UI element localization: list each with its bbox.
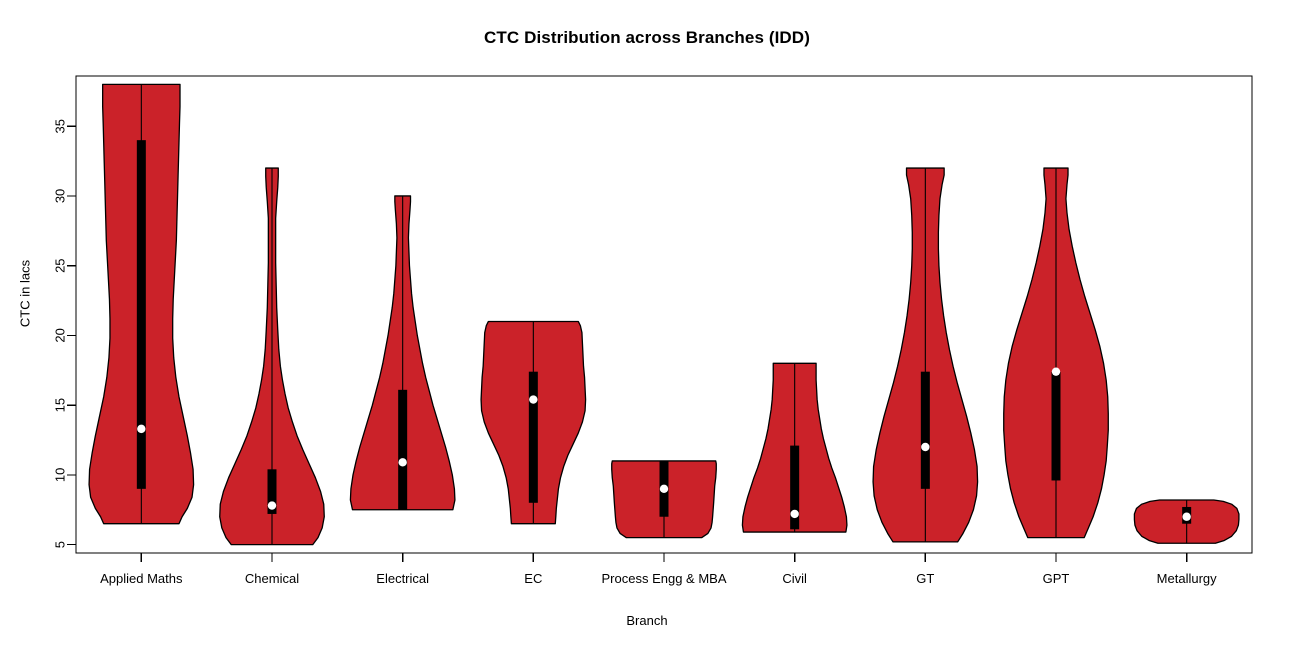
violin-process-engg-mba bbox=[612, 461, 717, 538]
x-axis-tick-label: Metallurgy bbox=[1157, 571, 1217, 586]
violin-plot-figure: CTC Distribution across Branches (IDD) C… bbox=[0, 0, 1294, 653]
median-marker bbox=[398, 458, 406, 466]
violin-ec bbox=[481, 321, 586, 523]
violin-chemical bbox=[220, 168, 325, 545]
x-axis: Applied MathsChemicalElectricalECProcess… bbox=[100, 553, 1217, 586]
violin-gt bbox=[873, 168, 978, 542]
x-axis-tick-label: GT bbox=[916, 571, 934, 586]
median-marker bbox=[137, 425, 145, 433]
x-axis-tick-label: Electrical bbox=[376, 571, 429, 586]
y-axis-tick-label: 35 bbox=[53, 119, 68, 133]
median-marker bbox=[790, 510, 798, 518]
y-axis-tick-label: 25 bbox=[53, 258, 68, 272]
iqr-box bbox=[398, 390, 407, 510]
violin-electrical bbox=[350, 196, 455, 510]
x-axis-tick-label: GPT bbox=[1043, 571, 1070, 586]
y-axis-tick-label: 20 bbox=[53, 328, 68, 342]
median-marker bbox=[921, 443, 929, 451]
iqr-box bbox=[137, 140, 146, 489]
iqr-box bbox=[1052, 372, 1061, 481]
x-axis-tick-label: Civil bbox=[782, 571, 807, 586]
y-axis-tick-label: 30 bbox=[53, 189, 68, 203]
y-axis: 5101520253035 bbox=[53, 119, 77, 548]
median-marker bbox=[1052, 367, 1060, 375]
median-marker bbox=[268, 501, 276, 509]
x-axis-tick-label: EC bbox=[524, 571, 542, 586]
y-axis-tick-label: 10 bbox=[53, 468, 68, 482]
x-axis-tick-label: Chemical bbox=[245, 571, 299, 586]
x-axis-tick-label: Applied Maths bbox=[100, 571, 183, 586]
iqr-box bbox=[529, 372, 538, 503]
median-marker bbox=[529, 395, 537, 403]
violin-gpt bbox=[1004, 168, 1109, 538]
violin-series-layer bbox=[89, 84, 1239, 544]
violin-applied-maths bbox=[89, 84, 194, 523]
iqr-box bbox=[921, 372, 930, 489]
median-marker bbox=[660, 485, 668, 493]
y-axis-tick-label: 15 bbox=[53, 398, 68, 412]
violin-civil bbox=[742, 363, 847, 532]
plot-canvas: 5101520253035 Applied MathsChemicalElect… bbox=[0, 0, 1294, 653]
violin-metallurgy bbox=[1134, 500, 1239, 543]
y-axis-tick-label: 5 bbox=[53, 541, 68, 548]
x-axis-tick-label: Process Engg & MBA bbox=[602, 571, 727, 586]
median-marker bbox=[1182, 513, 1190, 521]
